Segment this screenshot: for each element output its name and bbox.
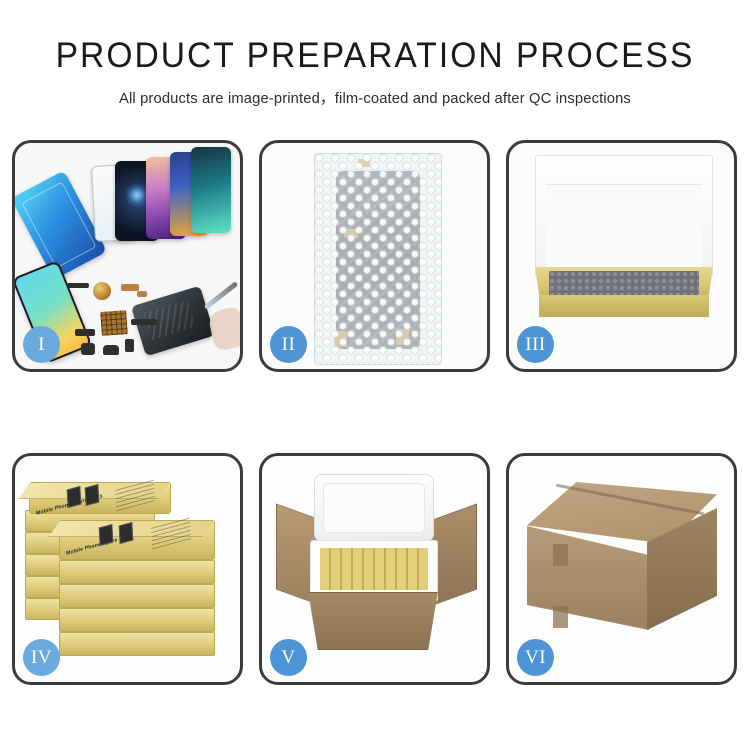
stacked-box-icon-8 — [59, 608, 215, 632]
flex-cable-icon-2 — [75, 329, 95, 336]
box-lid-icon — [535, 155, 713, 277]
box-label-chip-b1 — [99, 524, 113, 546]
box-label-chip-a2 — [85, 484, 99, 506]
carton-left-face-icon — [527, 526, 649, 630]
packed-retail-boxes-icon — [320, 548, 428, 590]
step-badge-1: I — [23, 326, 60, 363]
teal-gradient-phone-icon — [191, 147, 231, 233]
top-box-icon-b — [59, 520, 215, 560]
infographic-page: PRODUCT PREPARATION PROCESS All products… — [0, 0, 750, 750]
speaker-module-icon — [93, 282, 111, 300]
step-panel-2: II — [259, 140, 490, 372]
step-badge-6: VI — [517, 639, 554, 676]
carton-body-icon — [304, 592, 442, 650]
stacked-box-icon-7 — [59, 584, 215, 608]
bubble-wrap-bag-icon — [314, 153, 442, 365]
step-panel-5: V — [259, 453, 490, 685]
step-panel-3: III — [506, 140, 737, 372]
process-grid: I II III — [12, 140, 738, 685]
step-badge-3: III — [517, 326, 554, 363]
connector-chip-icon-2 — [137, 291, 147, 297]
logic-board-icon — [100, 310, 128, 336]
step-panel-6: VI — [506, 453, 737, 685]
camera-module-icon — [81, 343, 95, 355]
box-front-panel-icon — [539, 295, 709, 317]
button-flex-icon — [125, 339, 134, 352]
stacked-box-icon-9 — [59, 632, 215, 656]
connector-chip-icon-1 — [121, 284, 139, 291]
flex-cable-icon-1 — [67, 283, 89, 288]
styrofoam-lid-icon — [314, 474, 434, 542]
step-badge-2: II — [270, 326, 307, 363]
header: PRODUCT PREPARATION PROCESS All products… — [0, 0, 750, 108]
box-label-chip-b2 — [119, 522, 133, 544]
flex-cable-icon-3 — [131, 319, 157, 325]
page-subtitle: All products are image-printed，film-coat… — [11, 86, 739, 108]
stacked-box-icon-6 — [59, 560, 215, 584]
step-panel-1: I — [12, 140, 243, 372]
page-title: PRODUCT PREPARATION PROCESS — [15, 38, 735, 75]
step-panel-4: Mobile Phone Spare Parts Mobile Phone Sp… — [12, 453, 243, 685]
carton-tape-icon-2 — [553, 606, 568, 628]
box-stack: Mobile Phone Spare Parts Mobile Phone Sp… — [23, 476, 235, 672]
step-badge-5: V — [270, 639, 307, 676]
vibrator-module-icon — [103, 345, 119, 355]
box-label-chip-a1 — [67, 486, 81, 508]
hand-icon — [207, 306, 240, 352]
screwdriver-icon — [204, 281, 239, 310]
step-badge-4: IV — [23, 639, 60, 676]
carton-tape-icon-1 — [553, 544, 568, 566]
